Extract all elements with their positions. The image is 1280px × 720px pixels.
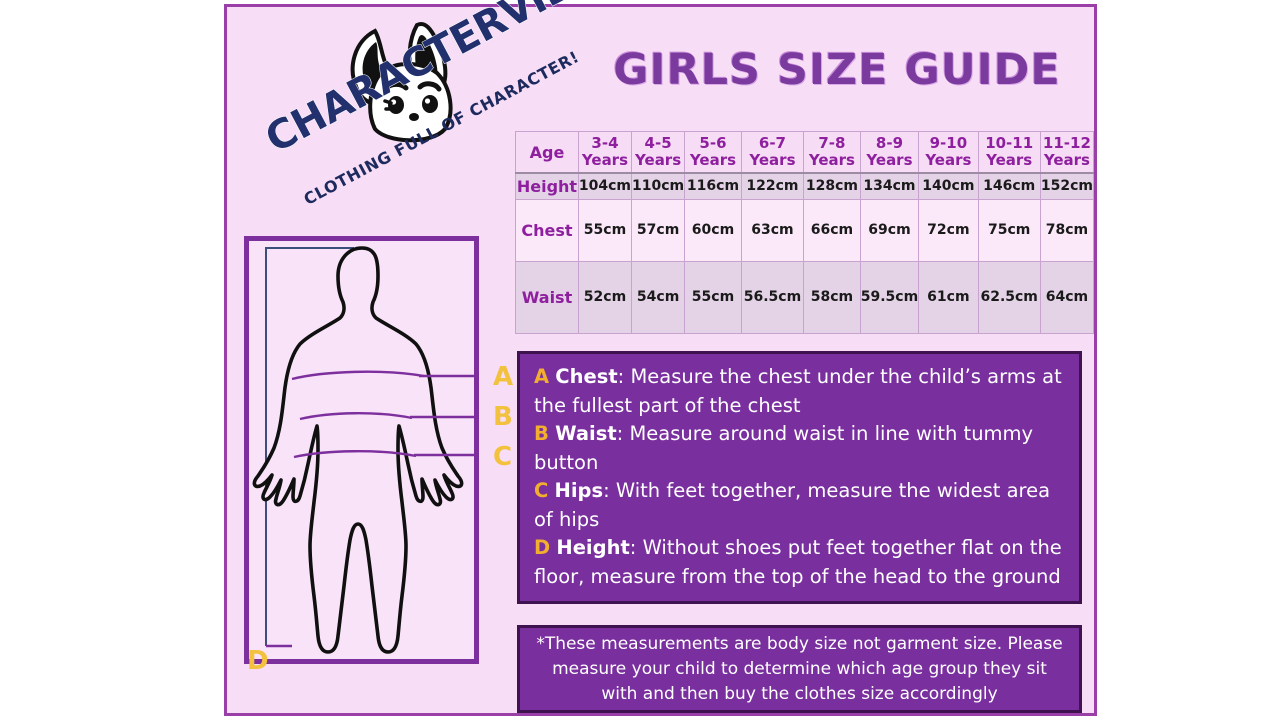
cell-waist-4: 58cm: [804, 261, 861, 333]
cell-height-6: 140cm: [919, 173, 978, 199]
cell-waist-2: 55cm: [685, 261, 742, 333]
cell-chest-0: 55cm: [578, 199, 631, 261]
row-label-waist: Waist: [516, 261, 579, 333]
cell-height-7: 146cm: [978, 173, 1040, 199]
cell-waist-6: 61cm: [919, 261, 978, 333]
cell-height-2: 116cm: [685, 173, 742, 199]
cell-chest-6: 72cm: [919, 199, 978, 261]
size-guide-page: CHARACTERVILLE CLOTHING FULL OF CHARACTE…: [224, 4, 1097, 716]
header-col-2: 5-6 Years: [685, 132, 742, 174]
table-row-waist: Waist 52cm 54cm 55cm 56.5cm 58cm 59.5cm …: [516, 261, 1094, 333]
row-label-height: Height: [516, 173, 579, 199]
cell-chest-2: 60cm: [685, 199, 742, 261]
cell-waist-8: 64cm: [1040, 261, 1093, 333]
marker-a: A: [493, 362, 513, 392]
table-row-height: Height 104cm 110cm 116cm 122cm 128cm 134…: [516, 173, 1094, 199]
guide-colon-b: :: [617, 422, 624, 445]
guide-colon-c: :: [603, 479, 610, 502]
cell-chest-7: 75cm: [978, 199, 1040, 261]
cell-height-8: 152cm: [1040, 173, 1093, 199]
cell-waist-7: 62.5cm: [978, 261, 1040, 333]
cell-waist-5: 59.5cm: [860, 261, 918, 333]
table-header-row: Age 3-4 Years 4-5 Years 5-6 Years 6-7 Ye…: [516, 132, 1094, 174]
body-diagram: [244, 236, 479, 664]
cell-height-3: 122cm: [741, 173, 803, 199]
header-col-4: 7-8 Years: [804, 132, 861, 174]
guide-letter-c: C: [534, 479, 548, 502]
cell-chest-3: 63cm: [741, 199, 803, 261]
page-title: GIRLS SIZE GUIDE: [587, 45, 1087, 95]
cell-height-0: 104cm: [578, 173, 631, 199]
guide-item-c: C Hips: With feet together, measure the …: [534, 477, 1065, 534]
cell-chest-4: 66cm: [804, 199, 861, 261]
guide-letter-d: D: [534, 536, 550, 559]
header-col-5: 8-9 Years: [860, 132, 918, 174]
measurement-guide-panel: A Chest: Measure the chest under the chi…: [517, 351, 1082, 604]
cell-waist-1: 54cm: [632, 261, 685, 333]
marker-b: B: [493, 402, 513, 432]
guide-text-c: With feet together, measure the widest a…: [534, 479, 1050, 531]
cell-chest-1: 57cm: [632, 199, 685, 261]
header-col-3: 6-7 Years: [741, 132, 803, 174]
cell-chest-8: 78cm: [1040, 199, 1093, 261]
guide-item-a: A Chest: Measure the chest under the chi…: [534, 363, 1065, 420]
guide-term-c: Hips: [555, 479, 604, 502]
header-col-6: 9-10 Years: [919, 132, 978, 174]
guide-term-b: Waist: [555, 422, 617, 445]
row-label-chest: Chest: [516, 199, 579, 261]
cell-height-1: 110cm: [632, 173, 685, 199]
header-age: Age: [516, 132, 579, 174]
guide-term-a: Chest: [555, 365, 617, 388]
marker-c: C: [493, 442, 512, 472]
cell-waist-3: 56.5cm: [741, 261, 803, 333]
guide-colon-a: :: [618, 365, 625, 388]
header-col-7: 10-11 Years: [978, 132, 1040, 174]
cell-waist-0: 52cm: [578, 261, 631, 333]
female-body-outline: [254, 248, 461, 652]
disclaimer-text: *These measurements are body size not ga…: [536, 632, 1063, 707]
guide-letter-a: A: [534, 365, 549, 388]
cell-chest-5: 69cm: [860, 199, 918, 261]
size-chart-table: Age 3-4 Years 4-5 Years 5-6 Years 6-7 Ye…: [515, 131, 1094, 334]
guide-term-d: Height: [556, 536, 629, 559]
header-col-1: 4-5 Years: [632, 132, 685, 174]
guide-letter-b: B: [534, 422, 549, 445]
header-col-8: 11-12 Years: [1040, 132, 1093, 174]
guide-item-d: D Height: Without shoes put feet togethe…: [534, 534, 1065, 591]
table-row-chest: Chest 55cm 57cm 60cm 63cm 66cm 69cm 72cm…: [516, 199, 1094, 261]
disclaimer-panel: *These measurements are body size not ga…: [517, 625, 1082, 713]
marker-d: D: [247, 646, 269, 676]
cell-height-5: 134cm: [860, 173, 918, 199]
header-col-0: 3-4 Years: [578, 132, 631, 174]
guide-colon-d: :: [630, 536, 637, 559]
cell-height-4: 128cm: [804, 173, 861, 199]
guide-item-b: B Waist: Measure around waist in line wi…: [534, 420, 1065, 477]
